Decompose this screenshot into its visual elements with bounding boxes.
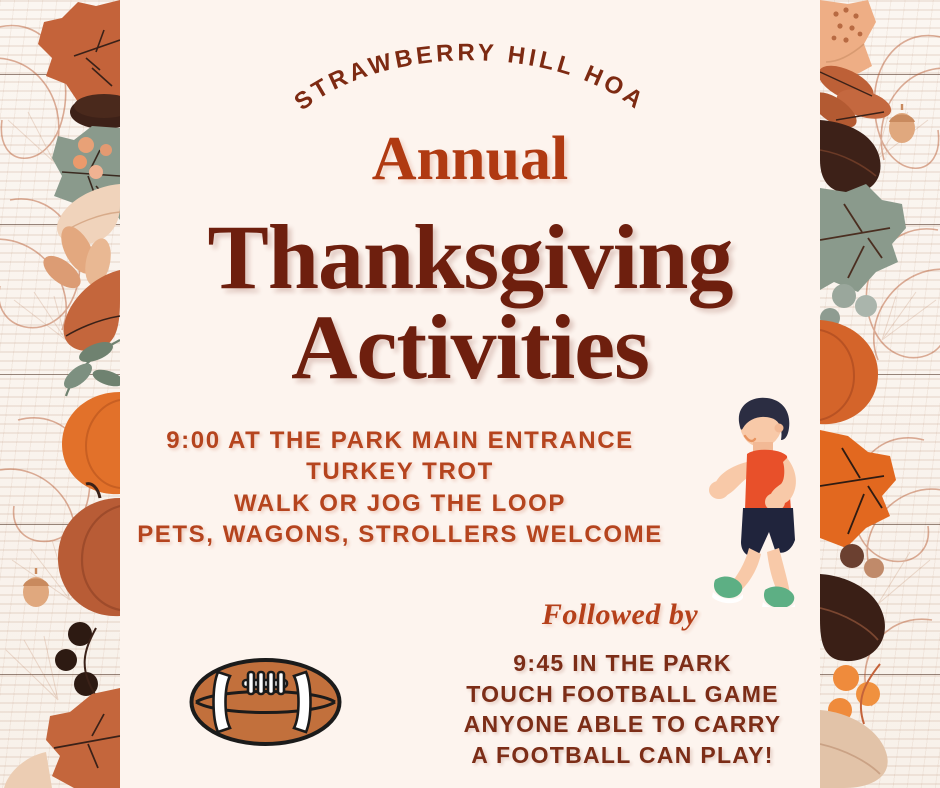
sage-sprig-left (60, 338, 120, 396)
football-event-details: 9:45 IN THE PARK TOUCH FOOTBALL GAME ANY… (450, 648, 795, 770)
page-title: Thanksgiving Activities (120, 212, 820, 392)
berries-brown-right (840, 544, 884, 578)
football-line: 9:45 IN THE PARK (450, 648, 795, 679)
pumpkin-rust-left (58, 484, 120, 616)
title-line-1: Thanksgiving (120, 212, 820, 302)
right-decorative-border (820, 0, 940, 788)
football-line: ANYONE ABLE TO CARRY (450, 709, 795, 740)
morning-event-details: 9:00 AT THE PARK MAIN ENTRANCE TURKEY TR… (120, 425, 680, 551)
leaf-orange-bright-right (820, 430, 896, 548)
acorn-right (889, 104, 915, 143)
leaf-dark-brown-right (820, 120, 881, 193)
thanksgiving-flyer: STRAWBERRY HILL HOA Annual Thanksgiving … (0, 0, 940, 788)
followed-by-label: Followed by (460, 598, 780, 632)
pumpkin-orange-left (62, 392, 120, 494)
morning-line: WALK OR JOG THE LOOP (120, 488, 680, 519)
berries-dark-left (55, 622, 98, 696)
title-accent: Annual (120, 128, 820, 190)
organization-name: STRAWBERRY HILL HOA (289, 39, 650, 116)
title-line-2: Activities (120, 302, 820, 392)
football-line: A FOOTBALL CAN PLAY! (450, 740, 795, 771)
morning-line: TURKEY TROT (120, 456, 680, 487)
morning-line: PETS, WAGONS, STROLLERS WELCOME (120, 519, 680, 550)
leaf-cream-bottom-right (820, 710, 888, 788)
left-decorative-border (0, 0, 120, 788)
leaf-rust-bottom-left (46, 688, 120, 788)
leaf-sage-maple-right (820, 184, 906, 292)
acorn-left (23, 568, 49, 607)
autumn-leaves-right (820, 0, 940, 788)
leaf-cream-bottom-left (4, 752, 52, 788)
morning-line: 9:00 AT THE PARK MAIN ENTRANCE (120, 425, 680, 456)
pumpkin-orange-right (820, 320, 878, 424)
leaf-dark-oak-right (820, 574, 885, 661)
runner-icon (695, 392, 825, 607)
football-line: TOUCH FOOTBALL GAME (450, 679, 795, 710)
leaf-rust-maple (38, 0, 120, 108)
autumn-leaves-left (0, 0, 120, 788)
football-icon (188, 648, 343, 756)
center-panel: STRAWBERRY HILL HOA Annual Thanksgiving … (120, 0, 820, 788)
